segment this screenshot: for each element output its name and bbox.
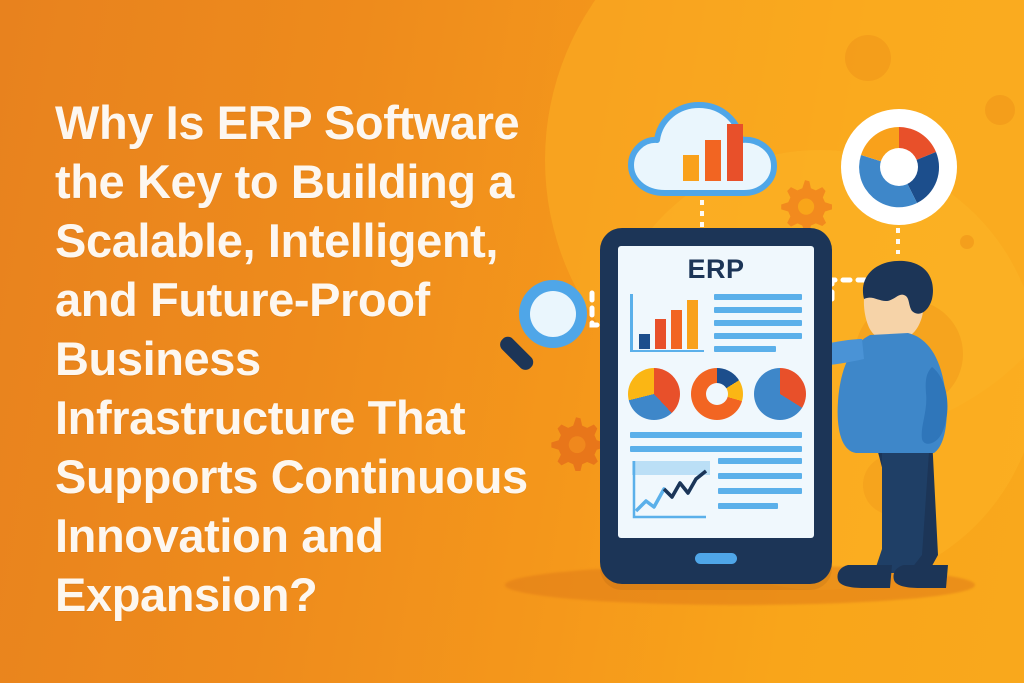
person-figure: [812, 255, 992, 600]
title-line: Innovation and: [55, 506, 615, 565]
home-button[interactable]: [695, 553, 737, 564]
erp-screen-title: ERP: [618, 254, 814, 285]
text-line: [718, 473, 802, 479]
title-line: Infrastructure That: [55, 388, 615, 447]
bar-2: [655, 319, 666, 349]
tablet-text-block-mid: [630, 432, 802, 460]
tablet-text-block-top: [714, 294, 802, 359]
donut-hole: [706, 383, 728, 405]
background-dot: [985, 95, 1015, 125]
tablet-text-block-bottom: [718, 458, 802, 518]
tablet-line-chart: [630, 461, 710, 523]
tablet-bar-chart: [630, 294, 704, 352]
text-line: [630, 432, 802, 438]
text-line: [718, 503, 778, 509]
text-line: [714, 294, 802, 300]
cloud-bar-1: [683, 155, 699, 181]
title-line: Business: [55, 329, 615, 388]
title-line: and Future-Proof: [55, 270, 615, 329]
donut-chart-icon: [840, 108, 958, 226]
chart-x-axis: [630, 350, 704, 353]
bar-3: [671, 310, 682, 349]
title-line: Supports Continuous: [55, 447, 615, 506]
cloud-bar-3: [727, 124, 743, 181]
title-line: Expansion?: [55, 565, 615, 624]
chart-y-axis: [630, 294, 633, 352]
cloud-analytics-icon: [625, 93, 780, 199]
text-line: [714, 346, 776, 352]
bar-4: [687, 300, 698, 349]
background-dot: [960, 235, 974, 249]
tablet-donut-2: [691, 368, 743, 420]
tablet-screen: ERP: [618, 246, 814, 538]
title-line: the Key to Building a: [55, 152, 615, 211]
gear-icon-top: [778, 178, 832, 232]
page-title: Why Is ERP Software the Key to Building …: [55, 93, 615, 624]
background-dot: [845, 35, 891, 81]
text-line: [714, 307, 802, 313]
connector-donut-to-tablet: [896, 228, 900, 254]
cloud-bar-2: [705, 140, 721, 181]
tablet-pie-3: [754, 368, 806, 420]
text-line: [718, 488, 802, 494]
title-line: Why Is ERP Software: [55, 93, 615, 152]
tablet-device: ERP: [600, 228, 832, 584]
text-line: [718, 458, 802, 464]
text-line: [714, 320, 802, 326]
text-line: [630, 446, 802, 452]
bar-1: [639, 334, 650, 349]
title-line: Scalable, Intelligent,: [55, 211, 615, 270]
banner-canvas: ERP: [0, 0, 1024, 683]
tablet-pie-row: [628, 368, 806, 420]
text-line: [714, 333, 802, 339]
tablet-pie-1: [628, 368, 680, 420]
